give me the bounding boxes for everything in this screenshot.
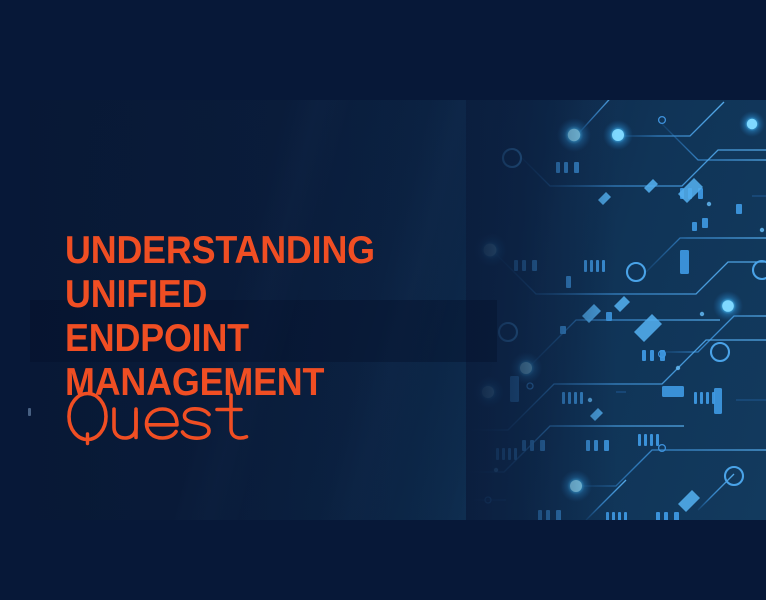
slide-canvas: Understanding Unified Endpoint Managemen… [0, 0, 766, 600]
circuit-board-artwork [466, 100, 766, 520]
circuit-nodes [472, 111, 765, 502]
edge-fleck-marker [28, 408, 31, 416]
page-title: Understanding Unified Endpoint Managemen… [65, 229, 497, 405]
quest-logo: Quest [64, 390, 264, 446]
